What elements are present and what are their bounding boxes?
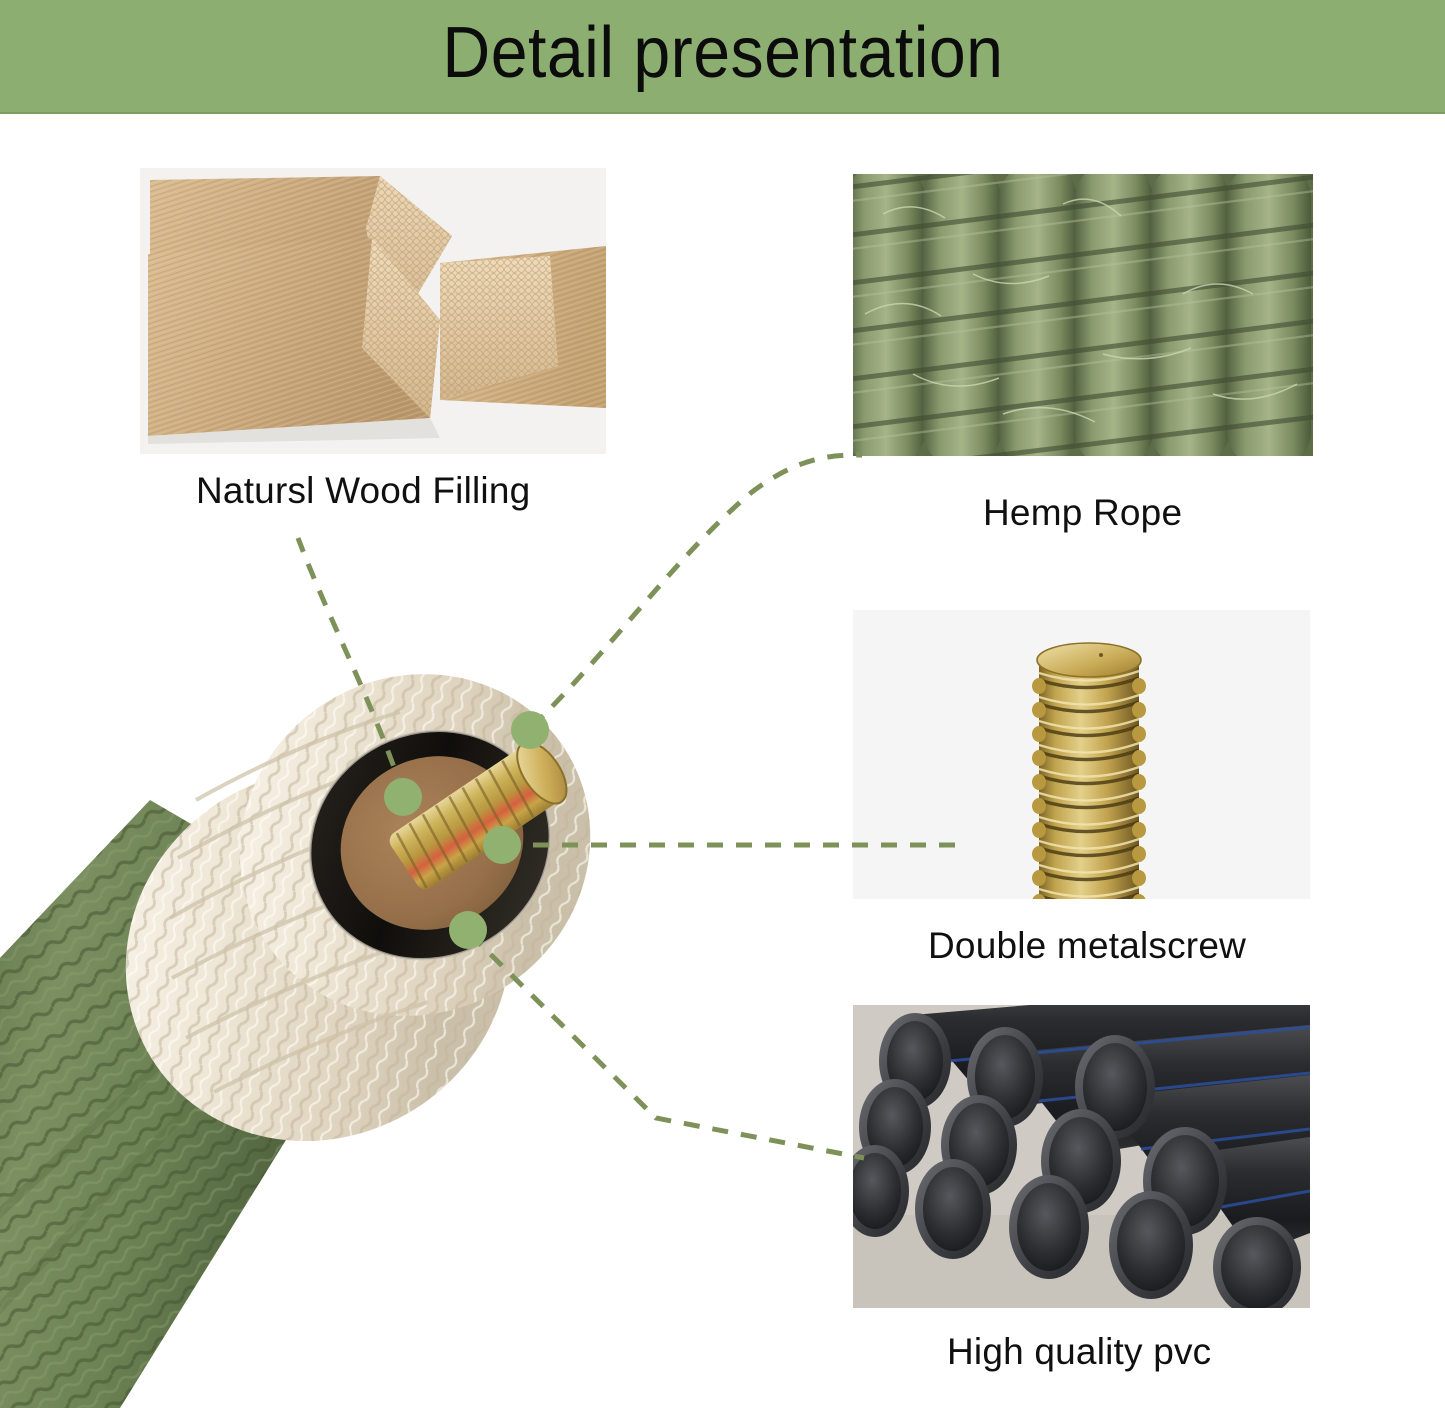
high-quality-pvc-photo: [853, 1005, 1310, 1308]
double-metalscrew-photo: [853, 610, 1310, 899]
brass-bolt: [385, 734, 577, 895]
callout-dot-hemp: [511, 711, 549, 749]
callout-dot-screw: [483, 826, 521, 864]
header-band: Detail presentation: [0, 0, 1445, 114]
wood-core: [310, 724, 554, 961]
caption-double-metalscrew: Double metalscrew: [928, 925, 1246, 967]
leader-line-hemp: [532, 455, 862, 727]
caption-high-quality-pvc: High quality pvc: [947, 1331, 1211, 1373]
natural-wood-filling-photo: [140, 168, 606, 454]
green-rope-shaft: [0, 800, 330, 1408]
detail-presentation-page: Detail presentation: [0, 0, 1445, 1408]
leader-line-pvc: [470, 934, 864, 1158]
hemp-rope-photo: [853, 174, 1313, 456]
caption-natural-wood-filling: Natursl Wood Filling: [196, 470, 530, 512]
callout-dot-wood: [384, 778, 422, 816]
leader-line-wood: [298, 538, 403, 793]
page-title: Detail presentation: [442, 17, 1003, 95]
callout-dot-pvc: [449, 911, 487, 949]
caption-hemp-rope: Hemp Rope: [983, 492, 1182, 534]
pvc-collar-ring: [270, 689, 591, 1001]
cream-sisal-wrap: [55, 608, 655, 1213]
